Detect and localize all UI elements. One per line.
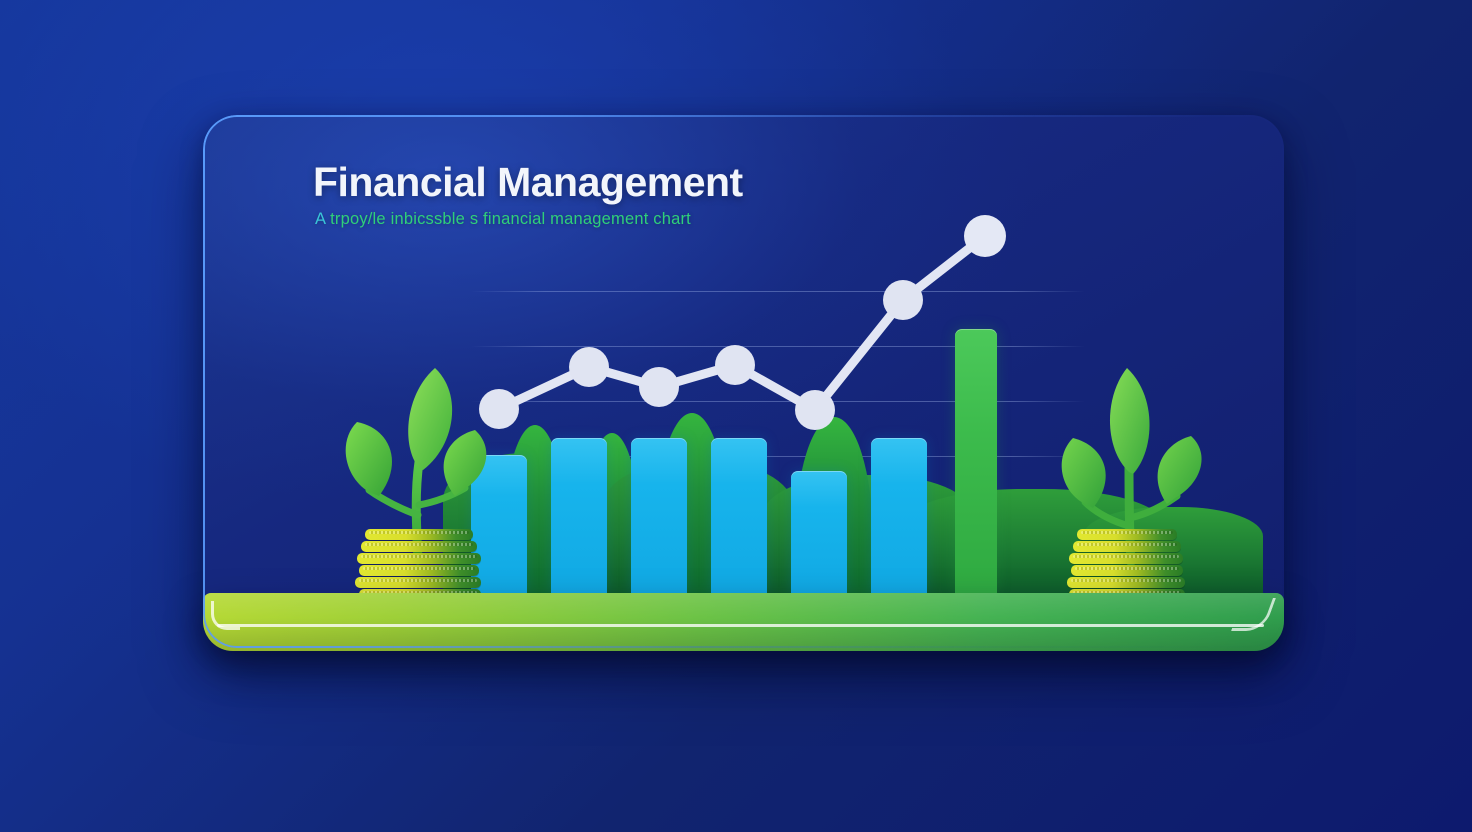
line-marker[interactable] (715, 345, 755, 385)
coin (1077, 529, 1177, 540)
plant-leaf (1062, 438, 1106, 508)
platform-highlight-left-corner (211, 601, 240, 630)
plant-in-coins-right (1043, 350, 1223, 600)
financial-management-card: Financial Management A trpoy/le inbicssb… (203, 115, 1284, 648)
line-marker[interactable] (639, 367, 679, 407)
trend-line-path (499, 236, 985, 410)
page-subtitle: A trpoy/le inbicssble s financial manage… (315, 210, 691, 229)
coin (1071, 565, 1183, 576)
line-marker[interactable] (964, 215, 1006, 257)
coin (365, 529, 473, 540)
plant-leaf (444, 430, 487, 496)
trend-line-markers (479, 215, 1006, 430)
plant-leaf (408, 368, 452, 470)
coin (361, 541, 477, 552)
line-marker[interactable] (883, 280, 923, 320)
subtitle-body: trpoy/le inbicssble s financial manageme… (330, 210, 691, 228)
plant-in-coins-left (323, 350, 513, 600)
coin (1073, 541, 1181, 552)
platform-highlight-line (217, 624, 1264, 627)
plant-leaf (346, 422, 392, 496)
page-title: Financial Management (313, 159, 743, 206)
coin (357, 553, 481, 564)
coin (1067, 577, 1185, 588)
line-marker[interactable] (569, 347, 609, 387)
canvas-root: Financial Management A trpoy/le inbicssb… (0, 0, 1472, 832)
plant-leaf (1110, 368, 1150, 474)
coin-stack-right (1067, 526, 1187, 600)
line-marker[interactable] (795, 390, 835, 430)
coin (1069, 553, 1183, 564)
platform-shading (203, 593, 1284, 651)
base-platform (203, 593, 1284, 651)
subtitle-prefix: A (315, 210, 330, 228)
coin (359, 565, 479, 576)
plant-leaf (1158, 436, 1202, 504)
coin-stack-left (355, 526, 483, 600)
coin (355, 577, 481, 588)
